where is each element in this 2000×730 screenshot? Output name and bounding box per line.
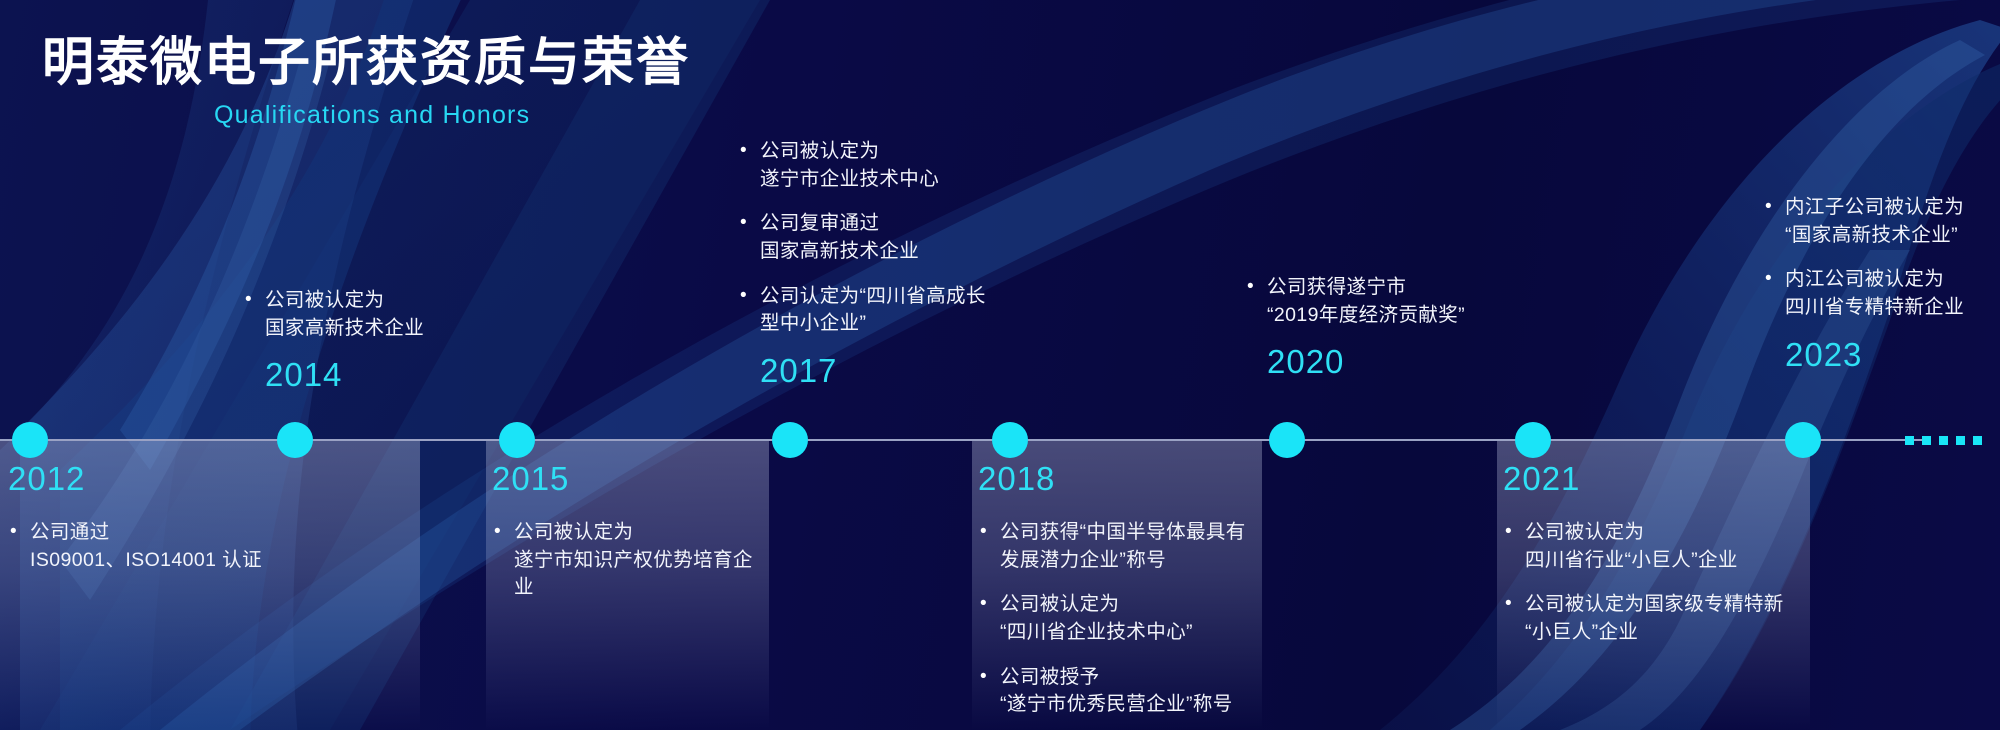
timeline-bullet-list-2012: 公司通过 IS09001、ISO14001 认证 — [8, 519, 262, 574]
bullet-line: 遂宁市企业技术中心 — [760, 166, 986, 194]
bullet-line: “2019年度经济贡献奖” — [1267, 302, 1465, 330]
slide-header: 明泰微电子所获资质与荣誉 Qualifications and Honors — [42, 34, 690, 130]
bullet-line: 公司被认定为国家级专精特新 — [1525, 591, 1784, 619]
bullet-line: 国家高新技术企业 — [760, 238, 986, 266]
timeline-year-label: 2023 — [1785, 338, 1964, 371]
bullet-line: “小巨人”企业 — [1525, 619, 1784, 647]
timeline-year-label: 2018 — [978, 462, 1246, 495]
axis-dash — [1973, 436, 1982, 445]
bullet-line: 业 — [514, 574, 753, 602]
timeline-year-label: 2012 — [8, 462, 262, 495]
timeline-node-2014[interactable] — [277, 422, 313, 458]
list-item: 公司被认定为遂宁市知识产权优势培育企业 — [492, 519, 753, 602]
timeline-bullet-list-2017: 公司被认定为遂宁市企业技术中心公司复审通过国家高新技术企业公司认定为“四川省高成… — [738, 138, 986, 338]
bullet-line: 公司被认定为 — [1000, 591, 1246, 619]
timeline-bullet-list-2014: 公司被认定为国家高新技术企业 — [243, 287, 424, 342]
timeline-year-label: 2020 — [1267, 345, 1465, 378]
timeline-entry-2021: 2021公司被认定为 四川省行业“小巨人”企业公司被认定为国家级专精特新“小巨人… — [1503, 462, 1784, 647]
bullet-line: 公司被认定为 — [265, 287, 424, 315]
slide-canvas: 明泰微电子所获资质与荣誉 Qualifications and Honors 2… — [0, 0, 2000, 730]
bullet-line: 公司复审通过 — [760, 210, 986, 238]
timeline-entry-2023: 内江子公司被认定为 “国家高新技术企业”内江公司被认定为 四川省专精特新企业20… — [1763, 194, 1964, 371]
timeline-year-label: 2015 — [492, 462, 753, 495]
list-item: 内江子公司被认定为 “国家高新技术企业” — [1763, 194, 1964, 249]
axis-dash — [1939, 436, 1948, 445]
timeline-bullet-list-2018: 公司获得“中国半导体最具有发展潜力企业”称号公司被认定为“四川省企业技术中心”公… — [978, 519, 1246, 719]
bullet-line: 公司被认定为 — [514, 519, 753, 547]
bullet-line: 公司通过 — [30, 519, 262, 547]
timeline-node-2018[interactable] — [992, 422, 1028, 458]
timeline-node-2017[interactable] — [772, 422, 808, 458]
timeline-entry-2018: 2018公司获得“中国半导体最具有发展潜力企业”称号公司被认定为“四川省企业技术… — [978, 462, 1246, 719]
bullet-line: 发展潜力企业”称号 — [1000, 547, 1246, 575]
list-item: 公司获得遂宁市“2019年度经济贡献奖” — [1245, 274, 1465, 329]
bullet-line: IS09001、ISO14001 认证 — [30, 547, 262, 575]
bullet-line: “遂宁市优秀民营企业”称号 — [1000, 691, 1246, 719]
timeline-year-label: 2017 — [760, 354, 986, 387]
list-item: 内江公司被认定为 四川省专精特新企业 — [1763, 266, 1964, 321]
list-item: 公司被认定为 四川省行业“小巨人”企业 — [1503, 519, 1784, 574]
page-title: 明泰微电子所获资质与荣誉 — [42, 34, 690, 92]
timeline-bullet-list-2021: 公司被认定为 四川省行业“小巨人”企业公司被认定为国家级专精特新“小巨人”企业 — [1503, 519, 1784, 647]
bullet-line: 内江子公司被认定为 — [1785, 194, 1964, 222]
timeline-node-2015[interactable] — [499, 422, 535, 458]
list-item: 公司被认定为遂宁市企业技术中心 — [738, 138, 986, 193]
timeline-bullet-list-2020: 公司获得遂宁市“2019年度经济贡献奖” — [1245, 274, 1465, 329]
bullet-line: 公司被认定为 — [1525, 519, 1784, 547]
timeline-bullet-list-2023: 内江子公司被认定为 “国家高新技术企业”内江公司被认定为 四川省专精特新企业 — [1763, 194, 1964, 322]
timeline-entry-2015: 2015公司被认定为遂宁市知识产权优势培育企业 — [492, 462, 753, 602]
bullet-line: 公司被授予 — [1000, 664, 1246, 692]
list-item: 公司复审通过国家高新技术企业 — [738, 210, 986, 265]
list-item: 公司获得“中国半导体最具有发展潜力企业”称号 — [978, 519, 1246, 574]
list-item: 公司被认定为国家高新技术企业 — [243, 287, 424, 342]
timeline-bullet-list-2015: 公司被认定为遂宁市知识产权优势培育企业 — [492, 519, 753, 602]
bullet-line: 四川省行业“小巨人”企业 — [1525, 547, 1784, 575]
timeline-entry-2014: 公司被认定为国家高新技术企业2014 — [243, 287, 424, 391]
axis-dash — [1905, 436, 1914, 445]
timeline-entry-2020: 公司获得遂宁市“2019年度经济贡献奖”2020 — [1245, 274, 1465, 378]
axis-dash — [1922, 436, 1931, 445]
bullet-line: “四川省企业技术中心” — [1000, 619, 1246, 647]
bullet-line: “国家高新技术企业” — [1785, 222, 1964, 250]
timeline-year-label: 2021 — [1503, 462, 1784, 495]
list-item: 公司通过 IS09001、ISO14001 认证 — [8, 519, 262, 574]
list-item: 公司被认定为国家级专精特新“小巨人”企业 — [1503, 591, 1784, 646]
timeline-entry-2012: 2012公司通过 IS09001、ISO14001 认证 — [8, 462, 262, 574]
list-item: 公司认定为“四川省高成长型中小企业” — [738, 283, 986, 338]
list-item: 公司被认定为“四川省企业技术中心” — [978, 591, 1246, 646]
bullet-line: 型中小企业” — [760, 310, 986, 338]
axis-dash — [1956, 436, 1965, 445]
bullet-line: 公司认定为“四川省高成长 — [760, 283, 986, 311]
bullet-line: 遂宁市知识产权优势培育企 — [514, 547, 753, 575]
timeline-node-2023[interactable] — [1785, 422, 1821, 458]
timeline-node-2021[interactable] — [1515, 422, 1551, 458]
timeline-node-2020[interactable] — [1269, 422, 1305, 458]
page-subtitle: Qualifications and Honors — [214, 101, 690, 130]
bullet-line: 公司获得遂宁市 — [1267, 274, 1465, 302]
bullet-line: 国家高新技术企业 — [265, 315, 424, 343]
bullet-line: 公司获得“中国半导体最具有 — [1000, 519, 1246, 547]
timeline-year-label: 2014 — [265, 358, 424, 391]
timeline-axis-end-dashes — [1905, 435, 2000, 445]
bullet-line: 四川省专精特新企业 — [1785, 294, 1964, 322]
timeline-entry-2017: 公司被认定为遂宁市企业技术中心公司复审通过国家高新技术企业公司认定为“四川省高成… — [738, 138, 986, 387]
bullet-line: 内江公司被认定为 — [1785, 266, 1964, 294]
list-item: 公司被授予“遂宁市优秀民营企业”称号 — [978, 664, 1246, 719]
bullet-line: 公司被认定为 — [760, 138, 986, 166]
timeline-node-2012[interactable] — [12, 422, 48, 458]
